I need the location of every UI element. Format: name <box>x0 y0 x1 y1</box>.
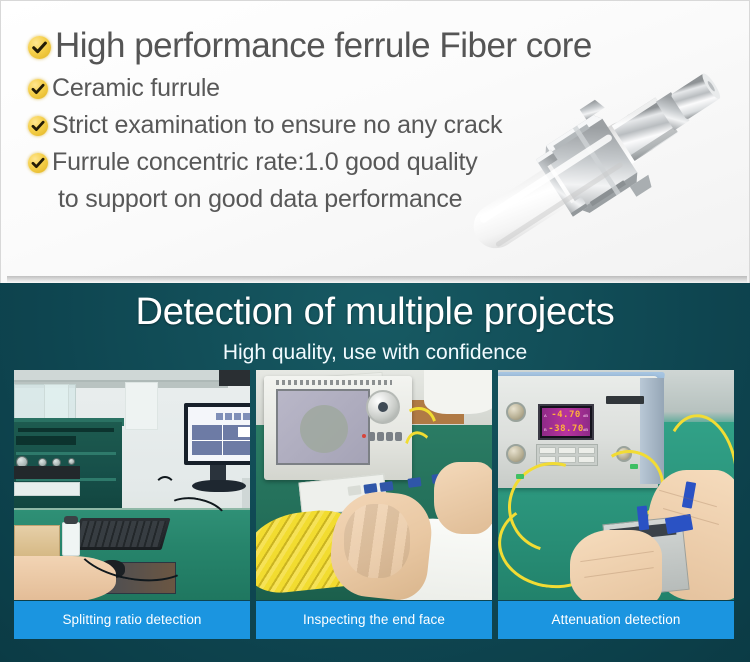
photo-gallery: Splitting ratio detection <box>14 370 736 600</box>
photo-caption: Splitting ratio detection <box>14 601 250 639</box>
features-panel: High performance ferrule Fiber core Cera… <box>0 0 750 283</box>
feature-item: Ceramic furrule <box>27 71 677 106</box>
check-badge-icon <box>27 152 49 174</box>
section-subtitle: High quality, use with confidence <box>0 339 750 367</box>
meter-display: A -4.70 dB B -38.70 dB <box>538 404 594 440</box>
feature-item: High performance ferrule Fiber core <box>27 23 677 69</box>
photo-inspecting-end-face <box>256 370 492 600</box>
feature-text: to support on good data performance <box>52 182 462 217</box>
check-badge-icon <box>27 78 49 100</box>
feature-item: Furrule concentric rate:1.0 good quality <box>27 145 677 180</box>
section-title: Detection of multiple projects <box>0 288 750 336</box>
photo-caption: Inspecting the end face <box>256 601 492 639</box>
meter-value-secondary: -38.70 <box>548 424 584 434</box>
monitor <box>184 403 250 465</box>
check-badge-icon <box>27 115 49 137</box>
check-badge-icon <box>27 35 52 60</box>
feature-text: High performance ferrule Fiber core <box>55 23 592 69</box>
feature-item: Strict examination to ensure no any crac… <box>27 108 677 143</box>
feature-item-continuation: to support on good data performance <box>27 182 677 217</box>
feature-text: Strict examination to ensure no any crac… <box>52 108 502 143</box>
photo-splitting-ratio-detection <box>14 370 250 600</box>
gallery-item[interactable]: Splitting ratio detection <box>14 370 250 600</box>
gallery-item[interactable]: A -4.70 dB B -38.70 dB <box>498 370 734 600</box>
feature-text: Ceramic furrule <box>52 71 220 106</box>
feature-text: Furrule concentric rate:1.0 good quality <box>52 145 478 180</box>
meter-value-primary: -4.70 <box>551 410 581 420</box>
detection-section: Detection of multiple projects High qual… <box>0 283 750 662</box>
photo-attenuation-detection: A -4.70 dB B -38.70 dB <box>498 370 734 600</box>
gallery-item[interactable]: Inspecting the end face <box>256 370 492 600</box>
product-marketing-banner: High performance ferrule Fiber core Cera… <box>0 0 750 662</box>
photo-caption: Attenuation detection <box>498 601 734 639</box>
feature-list: High performance ferrule Fiber core Cera… <box>27 23 677 219</box>
